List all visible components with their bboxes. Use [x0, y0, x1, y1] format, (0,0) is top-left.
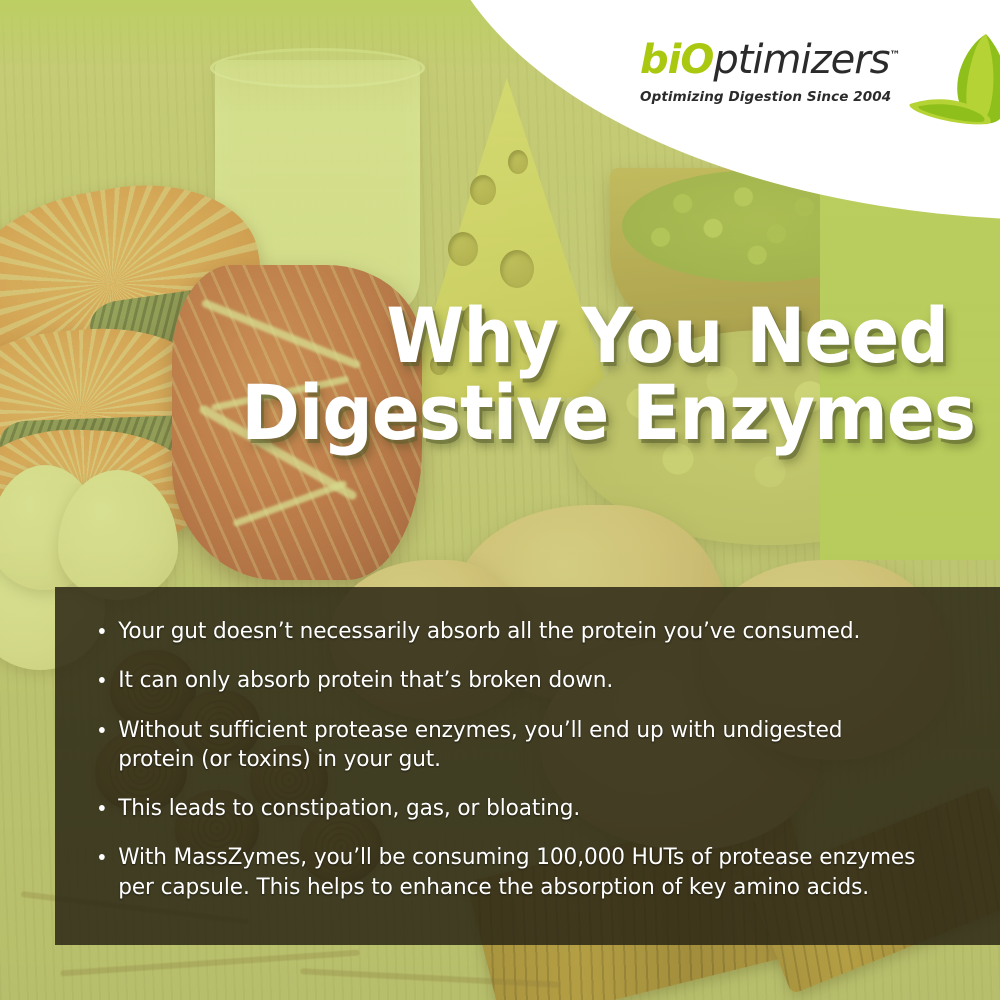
list-item: Your gut doesn’t necessarily absorb all …	[99, 617, 922, 646]
page-title: Why You Need Digestive Enzymes	[188, 300, 948, 450]
bullet-text: It can only absorb protein that’s broken…	[118, 666, 922, 695]
bullet-dot-icon	[99, 727, 105, 733]
list-item: It can only absorb protein that’s broken…	[99, 666, 922, 695]
logo-tagline: Optimizing Digestion Since 2004	[640, 89, 940, 105]
bullet-text: This leads to constipation, gas, or bloa…	[118, 794, 922, 823]
bullet-list: Your gut doesn’t necessarily absorb all …	[99, 617, 956, 902]
list-item: With MassZymes, you’ll be consuming 100,…	[99, 843, 922, 902]
list-item: This leads to constipation, gas, or bloa…	[99, 794, 922, 823]
title-line-2: Digestive Enzymes	[241, 377, 948, 450]
bullet-dot-icon	[99, 628, 105, 634]
bullet-text: Your gut doesn’t necessarily absorb all …	[118, 617, 922, 646]
logo-ptimizers-text: ptimizers	[713, 37, 889, 83]
logo-bio-text: biO	[640, 37, 713, 83]
list-item: Without sufficient protease enzymes, you…	[99, 716, 922, 775]
bullet-dot-icon	[99, 805, 105, 811]
bullet-text: With MassZymes, you’ll be consuming 100,…	[118, 843, 922, 902]
bullet-panel: Your gut doesn’t necessarily absorb all …	[55, 587, 1000, 945]
logo-wordmark: biOptimizers™	[640, 40, 940, 80]
title-line-1: Why You Need	[241, 300, 948, 373]
brand-logo[interactable]: biOptimizers™ Optimizing Digestion Since…	[640, 40, 940, 130]
trademark-icon: ™	[890, 49, 900, 62]
bullet-dot-icon	[99, 854, 105, 860]
poster: biOptimizers™ Optimizing Digestion Since…	[0, 0, 1000, 1000]
leaf-logo-icon	[908, 32, 1000, 137]
bullet-dot-icon	[99, 677, 105, 683]
bullet-text: Without sufficient protease enzymes, you…	[118, 716, 922, 775]
